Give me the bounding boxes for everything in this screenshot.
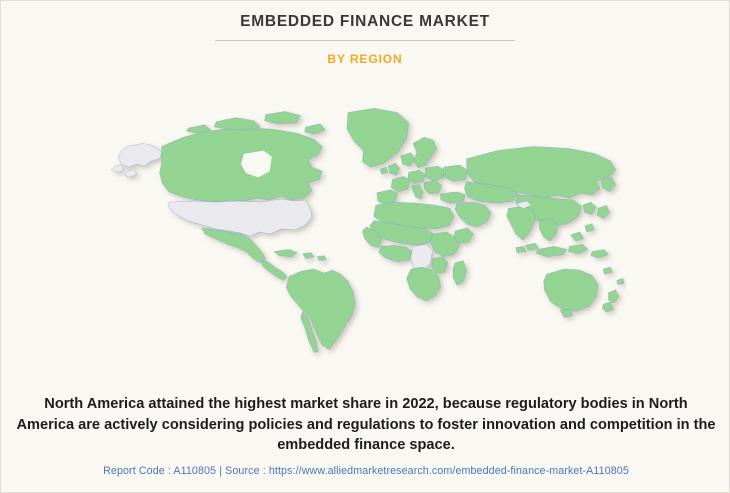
chart-subtitle: BY REGION bbox=[327, 52, 402, 66]
world-map-chart bbox=[1, 83, 730, 383]
source-link[interactable]: Source : https://www.alliedmarketresearc… bbox=[225, 465, 629, 477]
infographic-card: EMBEDDED FINANCE MARKET BY REGION bbox=[0, 0, 730, 493]
footer-separator: | bbox=[219, 465, 222, 477]
page-title: EMBEDDED FINANCE MARKET bbox=[240, 13, 490, 30]
caption-text: North America attained the highest marke… bbox=[1, 394, 730, 456]
title-divider bbox=[215, 40, 515, 41]
footer-meta: Report Code : A110805 | Source : https:/… bbox=[1, 465, 730, 477]
report-code-label: Report Code : A110805 bbox=[103, 465, 216, 477]
world-map-icon bbox=[106, 83, 626, 383]
